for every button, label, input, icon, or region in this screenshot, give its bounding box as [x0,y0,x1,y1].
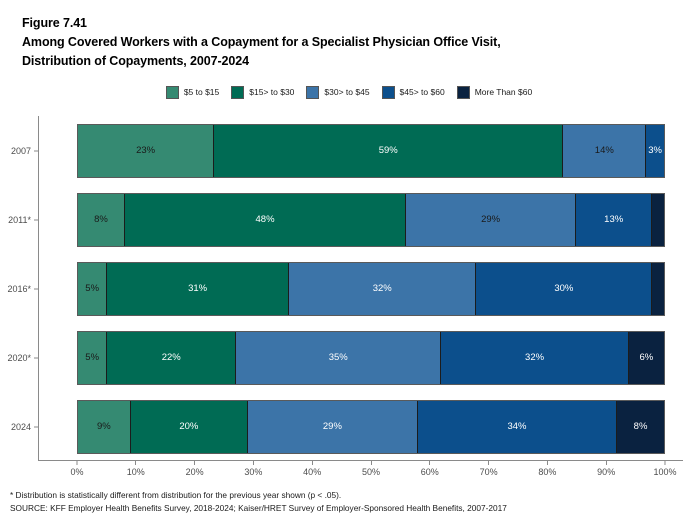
legend-item[interactable]: $5 to $15 [166,86,219,99]
bar-segment[interactable]: 13% [576,194,652,246]
y-axis-line [38,116,39,461]
x-axis-tick-mark [76,461,77,465]
bar-segment-label: 13% [604,214,623,225]
y-axis-tick-mark [34,288,38,289]
x-axis-tick-mark [135,461,136,465]
bar-segment[interactable]: 35% [236,332,441,384]
footnotes-block: * Distribution is statistically differen… [10,489,690,515]
x-axis-tick: 70% [480,461,498,477]
legend-label: More Than $60 [475,87,533,98]
bar-segment[interactable]: 23% [78,125,214,177]
x-axis-tick-group: 0%10%20%30%40%50%60%70%80%90%100% [38,461,683,481]
bar-segment-label: 23% [136,145,155,156]
bar-segment[interactable]: 48% [125,194,406,246]
x-axis-tick: 80% [538,461,556,477]
bar-segment-label: 6% [640,352,654,363]
legend-label: $5 to $15 [184,87,219,98]
bar-segment-label: 5% [85,283,99,294]
x-axis-tick: 90% [597,461,615,477]
bar-segment-label: 35% [329,352,348,363]
x-axis-tick: 10% [127,461,145,477]
bar-segment-label: 14% [595,145,614,156]
legend-swatch-icon [166,86,179,99]
legend-label: $45> to $60 [400,87,445,98]
legend-swatch-icon [231,86,244,99]
x-axis-tick-label: 20% [186,467,204,477]
x-axis-tick-mark [370,461,371,465]
bar-row[interactable]: 23%59%14%3% [77,124,665,178]
x-axis-tick-mark [547,461,548,465]
x-axis-tick-label: 80% [538,467,556,477]
bar-segment[interactable]: 8% [78,194,125,246]
x-axis-tick: 50% [362,461,380,477]
statistical-significance-note: * Distribution is statistically differen… [10,489,690,502]
bar-segment[interactable]: 34% [418,401,617,453]
bar-segment[interactable]: 5% [78,332,107,384]
bar-segment-label: 5% [85,352,99,363]
bar-row[interactable]: 9%20%29%34%8% [77,400,665,454]
bar-segment[interactable]: 29% [248,401,418,453]
x-axis-tick-label: 50% [362,467,380,477]
x-axis-tick-mark [665,461,666,465]
bar-segment[interactable]: 9% [78,401,131,453]
bar-segment[interactable]: 32% [441,332,629,384]
bar-segment[interactable]: 8% [617,401,664,453]
legend-swatch-icon [382,86,395,99]
x-axis-tick: 100% [653,461,676,477]
bar-segment[interactable]: 22% [107,332,236,384]
bar-segment-label: 22% [162,352,181,363]
x-axis-tick-label: 0% [70,467,83,477]
legend-label: $30> to $45 [324,87,369,98]
figure-number: Figure 7.41 [22,14,662,33]
y-axis-tick-mark [34,219,38,220]
bar-segment-label: 29% [481,214,500,225]
x-axis-tick-mark [606,461,607,465]
bar-segment[interactable]: 14% [563,125,646,177]
plot-area: 20072011*2016*2020*2024 23%59%14%3%8%48%… [38,116,683,461]
bar-segment-label: 8% [94,214,108,225]
legend-item[interactable]: $45> to $60 [382,86,445,99]
legend-item[interactable]: $30> to $45 [306,86,369,99]
bar-segment-label: 48% [256,214,275,225]
bar-segment[interactable]: 6% [629,332,664,384]
bar-segment-label: 31% [188,283,207,294]
bar-segment-label: 34% [507,421,526,432]
bar-segment-label: 3% [648,145,662,156]
y-axis-tick-mark [34,426,38,427]
legend-label: $15> to $30 [249,87,294,98]
x-axis-tick: 60% [421,461,439,477]
page-title-line-2: Distribution of Copayments, 2007-2024 [22,52,662,71]
x-axis-tick-label: 100% [653,467,676,477]
chart-legend: $5 to $15$15> to $30$30> to $45$45> to $… [0,86,698,99]
bar-row[interactable]: 5%31%32%30% [77,262,665,316]
x-axis-tick-mark [312,461,313,465]
bar-segment[interactable]: 20% [131,401,248,453]
x-axis-tick-mark [488,461,489,465]
bar-segment-label: 32% [373,283,392,294]
y-axis-tick-mark [34,150,38,151]
legend-swatch-icon [306,86,319,99]
bar-row[interactable]: 5%22%35%32%6% [77,331,665,385]
x-axis-tick-mark [429,461,430,465]
bar-segment[interactable]: 3% [646,125,664,177]
x-axis-tick-label: 40% [303,467,321,477]
chart-title-block: Figure 7.41 Among Covered Workers with a… [22,14,662,71]
bar-segment-label: 29% [323,421,342,432]
bar-segment[interactable]: 31% [107,263,289,315]
x-axis-tick-label: 30% [244,467,262,477]
bar-segment-label: 32% [525,352,544,363]
bar-segment-label: 20% [179,421,198,432]
bar-segment[interactable]: 5% [78,263,107,315]
source-note: SOURCE: KFF Employer Health Benefits Sur… [10,502,690,515]
bar-segment[interactable] [652,263,664,315]
x-axis-tick-label: 60% [421,467,439,477]
bar-segment[interactable]: 59% [214,125,563,177]
x-axis-tick-label: 90% [597,467,615,477]
bar-segment[interactable]: 30% [476,263,652,315]
bar-segment[interactable]: 32% [289,263,477,315]
legend-item[interactable]: $15> to $30 [231,86,294,99]
x-axis-tick-mark [194,461,195,465]
bar-segment[interactable] [652,194,664,246]
bar-segment[interactable]: 29% [406,194,576,246]
x-axis-tick-mark [253,461,254,465]
x-axis-tick-label: 70% [480,467,498,477]
bar-segment-label: 30% [554,283,573,294]
x-axis-tick: 30% [244,461,262,477]
page-title-line-1: Among Covered Workers with a Copayment f… [22,33,662,52]
x-axis-tick: 0% [70,461,83,477]
x-axis-tick-label: 10% [127,467,145,477]
bar-segment-label: 8% [634,421,648,432]
x-axis-tick: 40% [303,461,321,477]
legend-swatch-icon [457,86,470,99]
bar-segment-label: 59% [379,145,398,156]
legend-item[interactable]: More Than $60 [457,86,533,99]
stacked-bars-group: 23%59%14%3%8%48%29%13%5%31%32%30%5%22%35… [77,116,665,461]
x-axis-tick: 20% [186,461,204,477]
bar-row[interactable]: 8%48%29%13% [77,193,665,247]
y-axis-tick-mark [34,357,38,358]
bar-segment-label: 9% [97,421,111,432]
